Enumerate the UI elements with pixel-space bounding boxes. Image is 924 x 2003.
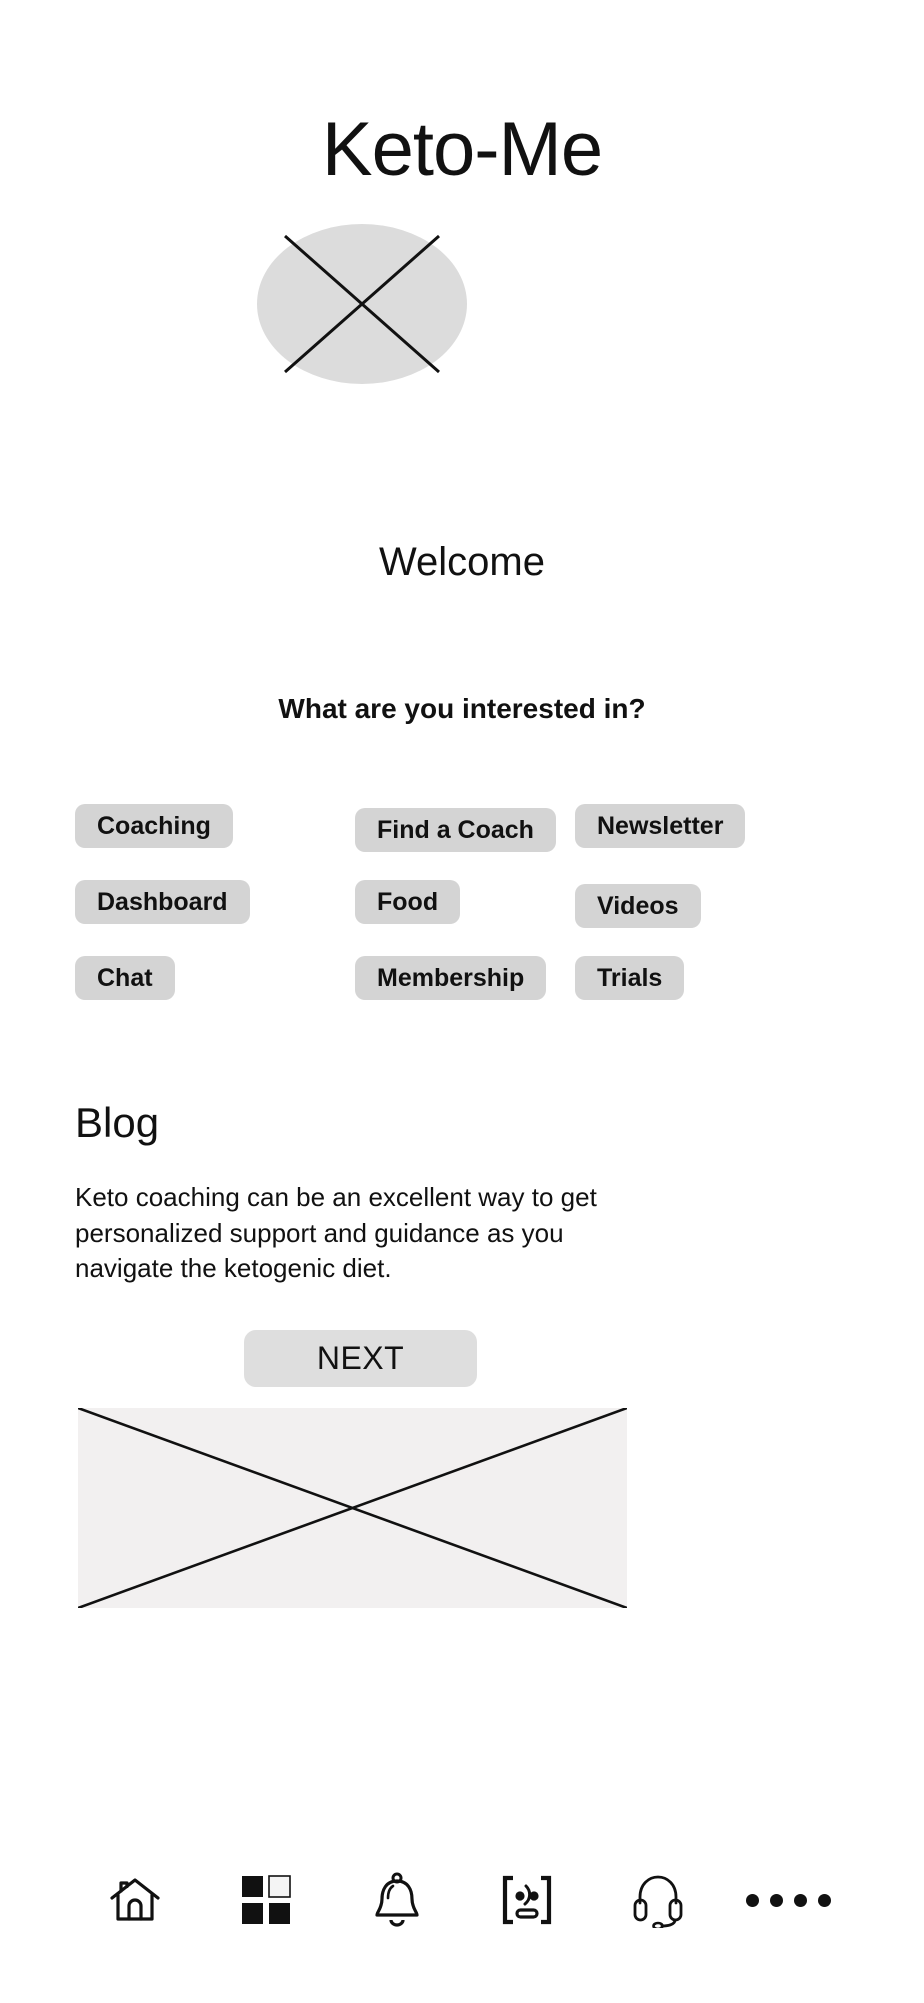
chip-row: Chat Membership Trials <box>75 956 850 1012</box>
dot <box>746 1894 759 1907</box>
home-icon <box>108 1875 162 1925</box>
bottom-navigation-bar <box>0 1840 924 1960</box>
chip-cell: Coaching <box>75 804 355 848</box>
dot <box>818 1894 831 1907</box>
dot <box>794 1894 807 1907</box>
headset-icon <box>631 1872 685 1928</box>
nav-item-dashboard[interactable] <box>230 1864 302 1936</box>
interest-question: What are you interested in? <box>0 692 924 726</box>
welcome-heading: Welcome <box>0 538 924 586</box>
image-placeholder-cross-icon <box>78 1408 627 1608</box>
chip-row: Dashboard Food Videos <box>75 880 850 936</box>
next-button[interactable]: NEXT <box>244 1330 477 1387</box>
interest-chip-grid: Coaching Find a Coach Newsletter Dashboa… <box>75 804 850 1032</box>
chat-face-icon <box>501 1874 553 1926</box>
nav-item-notifications[interactable] <box>361 1864 433 1936</box>
more-dots-icon <box>746 1894 831 1907</box>
bell-icon <box>373 1872 421 1928</box>
chip-cell: Videos <box>575 880 850 928</box>
app-title: Keto-Me <box>0 112 924 188</box>
chip-cell: Dashboard <box>75 880 355 924</box>
chip-videos[interactable]: Videos <box>575 884 701 928</box>
logo-placeholder <box>257 224 467 384</box>
chip-cell: Find a Coach <box>355 804 575 852</box>
dashboard-grid-icon <box>240 1874 292 1926</box>
chip-cell: Trials <box>575 956 850 1000</box>
nav-item-more[interactable] <box>753 1864 825 1936</box>
dot <box>770 1894 783 1907</box>
chip-chat[interactable]: Chat <box>75 956 175 1000</box>
chip-dashboard[interactable]: Dashboard <box>75 880 250 924</box>
chip-cell: Chat <box>75 956 355 1000</box>
nav-item-chat[interactable] <box>491 1864 563 1936</box>
chip-cell: Newsletter <box>575 804 850 848</box>
blog-body-text: Keto coaching can be an excellent way to… <box>75 1180 655 1287</box>
chip-food[interactable]: Food <box>355 880 460 924</box>
placeholder-circle-cross-icon <box>257 224 467 384</box>
chip-newsletter[interactable]: Newsletter <box>575 804 745 848</box>
app-screen: Keto-Me Welcome What are you interested … <box>0 0 924 2003</box>
blog-image-placeholder <box>78 1408 627 1608</box>
chip-find-a-coach[interactable]: Find a Coach <box>355 808 556 852</box>
chip-membership[interactable]: Membership <box>355 956 546 1000</box>
nav-item-home[interactable] <box>99 1864 171 1936</box>
chip-cell: Food <box>355 880 575 924</box>
nav-item-support[interactable] <box>622 1864 694 1936</box>
chip-trials[interactable]: Trials <box>575 956 684 1000</box>
chip-cell: Membership <box>355 956 575 1000</box>
blog-section-title: Blog <box>75 1100 159 1146</box>
chip-coaching[interactable]: Coaching <box>75 804 233 848</box>
chip-row: Coaching Find a Coach Newsletter <box>75 804 850 860</box>
